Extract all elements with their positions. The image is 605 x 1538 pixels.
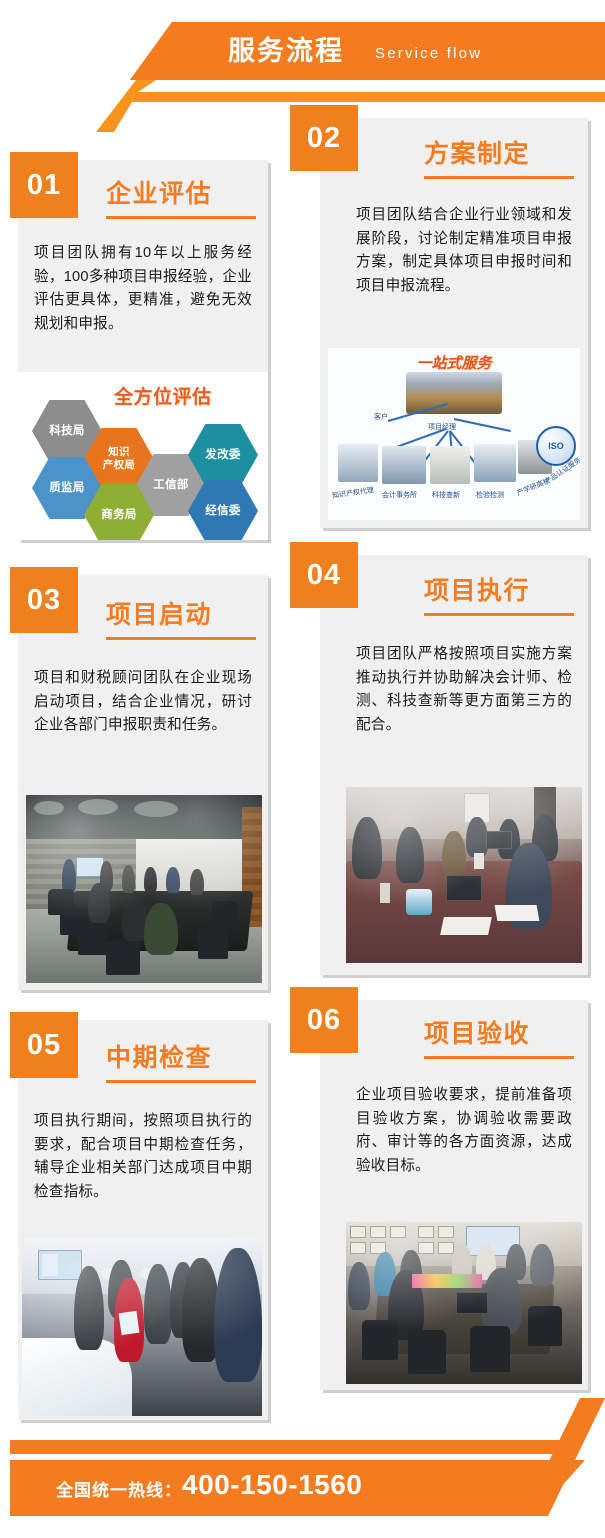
- service-branch-label-3: 科技查新: [432, 490, 460, 500]
- step-card-06[interactable]: 06 项目验收 企业项目验收要求，提前准备项目验收方案，协调验收需要政府、审计等…: [320, 1000, 588, 1390]
- photo-person: [352, 817, 382, 879]
- step-number-badge: 04: [290, 542, 358, 608]
- step-number-badge: 05: [10, 1012, 78, 1078]
- photo-paper: [440, 917, 492, 935]
- photo-chair: [60, 907, 88, 935]
- photo-whiteboard: [76, 857, 104, 877]
- step-number-badge: 01: [10, 152, 78, 218]
- step-number-badge: 03: [10, 567, 78, 633]
- photo-ac-unit: [464, 793, 490, 823]
- photo-certificate-frame: [418, 1226, 434, 1238]
- photo-certificate-frame: [438, 1242, 454, 1254]
- photo-person-red-coat: [114, 1278, 144, 1362]
- photo-certificate-frame: [370, 1226, 386, 1238]
- photo-showroom-visit: [22, 1238, 262, 1416]
- step-title: 方案制定: [424, 138, 530, 170]
- page-footer: 全国统一热线： 400-150-1560: [0, 1398, 605, 1538]
- step-title: 项目启动: [106, 599, 212, 631]
- photo-laptop: [456, 1292, 488, 1314]
- photo-certificate-frame: [418, 1242, 434, 1254]
- photo-person: [108, 1260, 134, 1318]
- photo-brochure: [119, 1311, 140, 1335]
- photo-person: [442, 831, 466, 877]
- step-card-04[interactable]: 04 项目执行 项目团队严格按照项目实施方案推动执行并协助解决会计师、检测、科技…: [320, 555, 588, 975]
- photo-person: [482, 1268, 522, 1334]
- step-title: 中期检查: [106, 1042, 212, 1074]
- photo-person: [122, 865, 135, 893]
- hexagon-figure-title: 全方位评估: [114, 382, 212, 409]
- photo-paper: [495, 905, 540, 921]
- photo-certificate-frame: [390, 1226, 406, 1238]
- step-card-02[interactable]: 02 方案制定 项目团队结合企业行业领域和发展阶段，讨论制定精准项目申报方案，制…: [320, 118, 588, 528]
- step-description: 项目团队严格按照项目实施方案推动执行并协助解决会计师、检测、科技查新等更方面第三…: [356, 643, 572, 737]
- photo-person: [62, 859, 76, 893]
- step-description: 项目团队拥有10年以上服务经验，100多种项目申报经验，企业评估更具体，更精准，…: [34, 242, 252, 336]
- service-label-manager: 项目经理: [428, 422, 456, 432]
- photo-ceiling: [22, 1238, 262, 1294]
- photo-chair: [528, 1306, 562, 1346]
- photo-ceiling: [26, 795, 262, 839]
- photo-wall: [346, 1222, 582, 1266]
- photo-certificate-frame: [350, 1226, 366, 1238]
- photo-table: [374, 1284, 555, 1354]
- service-label-customer: 客户: [374, 412, 388, 422]
- photo-cup: [474, 853, 484, 869]
- photo-person: [530, 1244, 554, 1286]
- service-tile-4: [474, 444, 516, 482]
- photo-chair: [78, 925, 108, 955]
- step-number-badge: 06: [290, 987, 358, 1053]
- service-figure-top-photo: [406, 372, 502, 414]
- photo-person: [400, 1250, 422, 1292]
- service-tile-2: [382, 446, 426, 484]
- photo-wood-panel: [242, 807, 262, 927]
- photo-person: [182, 1258, 220, 1362]
- photo-person: [506, 1244, 526, 1280]
- photo-wall: [346, 787, 582, 839]
- photo-light: [140, 1268, 164, 1280]
- title-underline: [424, 613, 574, 616]
- page-subtitle: Service flow: [375, 44, 482, 64]
- hotline-label: 全国统一热线：: [56, 1476, 182, 1501]
- title-underline: [424, 1056, 574, 1059]
- title-underline: [424, 176, 574, 179]
- photo-projector-screen: [466, 1226, 520, 1256]
- title-underline: [106, 637, 256, 640]
- photo-person: [190, 869, 204, 895]
- service-tile-3: [430, 446, 470, 484]
- header-banner-shape: [130, 22, 605, 80]
- photo-person: [214, 1248, 262, 1382]
- service-branch-label-4: 检验检测: [476, 490, 504, 500]
- photo-laptop: [446, 875, 482, 901]
- service-flow-infographic: 服务流程 Service flow 01 企业评估 项目团队拥有10年以上服务经…: [0, 0, 605, 1538]
- step-description: 企业项目验收要求，提前准备项目验收方案，协调验收需要政府、审计等的各方面资源，达…: [356, 1084, 572, 1178]
- photo-person: [144, 867, 157, 893]
- photo-certificate-frame: [370, 1242, 386, 1254]
- photo-person: [122, 895, 148, 941]
- photo-display-screen: [42, 1254, 58, 1276]
- photo-person: [466, 817, 488, 857]
- photo-cup: [380, 883, 390, 903]
- step-card-05[interactable]: 05 中期检查 项目执行期间，按照项目执行的要求，配合项目中期检查任务，辅导企业…: [18, 1020, 268, 1420]
- photo-display-screen: [38, 1250, 82, 1280]
- photo-person: [498, 819, 520, 859]
- photo-doorway: [534, 787, 556, 849]
- photo-person: [348, 1262, 370, 1310]
- photo-laptop: [486, 831, 512, 849]
- page-title: 服务流程: [228, 32, 344, 70]
- photo-table: [346, 861, 582, 963]
- photo-ceiling-panel: [34, 801, 64, 815]
- service-branch-label-2: 会计事务所: [382, 490, 417, 500]
- photo-flowers: [412, 1274, 482, 1288]
- photo-person: [506, 843, 552, 929]
- hotline-number[interactable]: 400-150-1560: [182, 1469, 362, 1501]
- photo-light: [100, 1268, 124, 1280]
- photo-bag: [406, 889, 432, 915]
- step-description: 项目和财税顾问团队在企业现场启动项目，结合企业情况，研讨企业各部门申报职责和任务…: [34, 667, 252, 738]
- hexagon-node-zscql-label: 知识产权局: [103, 446, 135, 472]
- photo-person: [452, 1244, 472, 1280]
- photo-chair: [470, 1326, 510, 1372]
- step-card-01[interactable]: 01 企业评估 项目团队拥有10年以上服务经验，100多种项目申报经验，企业评估…: [18, 160, 268, 540]
- photo-person: [170, 1262, 196, 1338]
- photo-person: [100, 861, 113, 891]
- step-card-03[interactable]: 03 项目启动 项目和财税顾问团队在企业现场启动项目，结合企业情况，研讨企业各部…: [18, 575, 268, 990]
- photo-person: [74, 1266, 104, 1350]
- one-stop-service-figure: 一站式服务 客户 项目经理 ISO: [328, 348, 580, 520]
- photo-chair: [408, 1330, 446, 1374]
- photo-certificate-frame: [438, 1226, 454, 1238]
- photo-ceiling-panel: [78, 799, 118, 815]
- photo-conference-room: [26, 795, 262, 983]
- step-title: 企业评估: [106, 178, 212, 210]
- step-title: 项目验收: [424, 1018, 530, 1050]
- photo-person: [388, 1270, 424, 1340]
- photo-person: [144, 903, 178, 955]
- photo-ceiling-panel: [134, 801, 178, 817]
- photo-person: [88, 883, 110, 923]
- photo-person: [144, 1264, 172, 1344]
- photo-certificate-frame: [350, 1242, 366, 1254]
- photo-person: [396, 827, 424, 883]
- service-arrow-2: [454, 418, 511, 432]
- photo-person: [476, 1244, 496, 1280]
- photo-chair: [48, 889, 74, 915]
- assessment-hexagon-figure: 全方位评估 科技局 知识产权局 质监局 工信部 商务局 发改委 经信委: [18, 372, 268, 540]
- title-underline: [106, 216, 256, 219]
- step-description: 项目团队结合企业行业领域和发展阶段，讨论制定精准项目申报方案，制定具体项目申报时…: [356, 204, 572, 298]
- photo-chair: [198, 927, 228, 959]
- step-number-badge: 02: [290, 105, 358, 171]
- photo-chair: [106, 941, 140, 975]
- photo-person: [374, 1252, 396, 1296]
- title-underline: [106, 1080, 256, 1083]
- photo-chair: [362, 1320, 398, 1360]
- photo-person: [532, 815, 558, 861]
- photo-chair: [212, 901, 238, 929]
- footer-chevron-stripe: [10, 1440, 585, 1454]
- photo-working-meeting: [346, 787, 582, 963]
- photo-wall: [136, 839, 246, 909]
- photo-stone-wall: [26, 839, 136, 909]
- step-title: 项目执行: [424, 575, 530, 607]
- step-description: 项目执行期间，按照项目执行的要求，配合项目中期检查任务，辅导企业相关部门达成项目…: [34, 1110, 252, 1204]
- service-tile-1: [338, 444, 378, 482]
- photo-boardroom: [346, 1222, 582, 1384]
- photo-table: [67, 891, 253, 951]
- service-branch-label-1: 知识产权代理: [332, 485, 375, 501]
- photo-person: [166, 867, 180, 893]
- service-figure-title: 一站式服务: [328, 352, 580, 373]
